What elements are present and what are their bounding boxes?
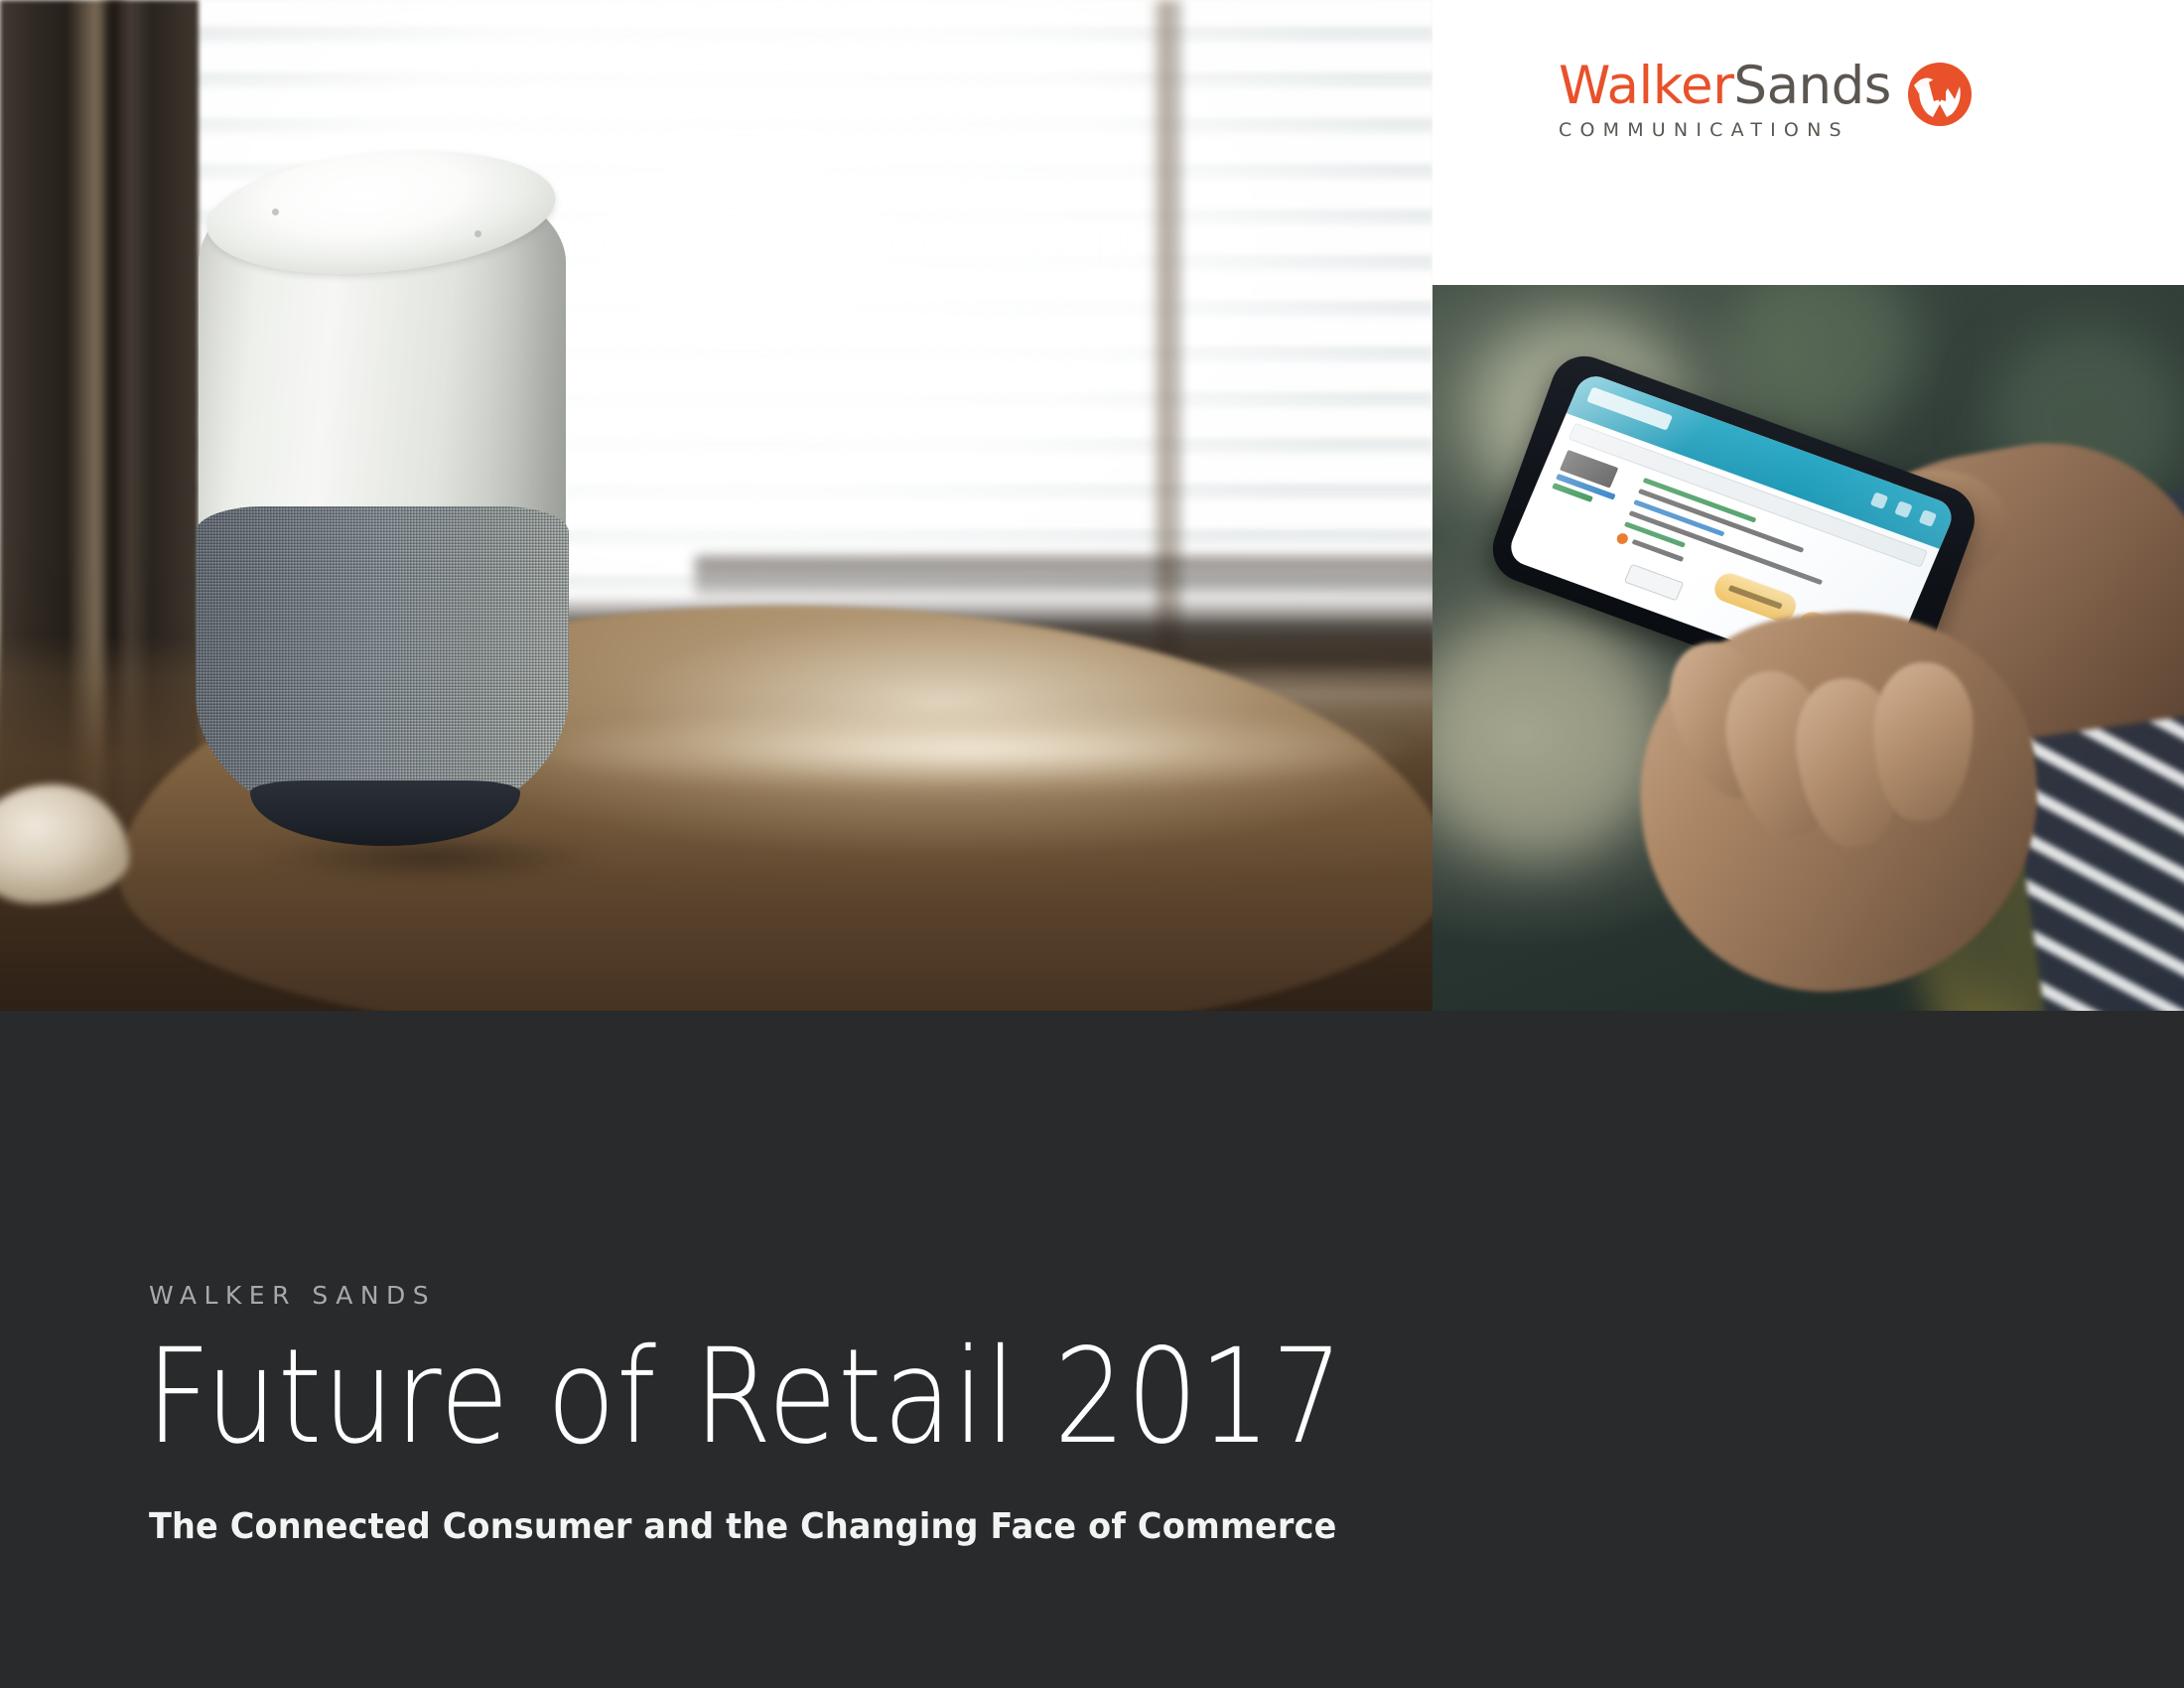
cart-icon [1919,509,1938,527]
logo-area: WalkerSands COMMUNICATIONS [1433,0,2184,285]
bokeh-light [1730,285,1919,434]
logo-word-walker: Walker [1559,56,1733,116]
account-icon [1894,500,1913,518]
logo-wordmark: WalkerSands [1559,60,1891,112]
mobile-shopping-photo [1433,285,2184,1011]
search-icon [1870,492,1889,509]
page-subtitle: The Connected Consumer and the Changing … [149,1507,1337,1547]
table-highlight [496,695,1433,804]
logo-tagline: COMMUNICATIONS [1559,119,1891,141]
hero-photo-band: WalkerSands COMMUNICATIONS [0,0,2184,1011]
logo-wordmark-group: WalkerSands COMMUNICATIONS [1559,60,1891,141]
report-cover: WalkerSands COMMUNICATIONS [0,0,2184,1688]
logo-word-sands: Sands [1733,56,1890,116]
speaker-mic-dot [475,230,481,237]
speaker-mic-dot [272,209,279,215]
page-title: Future of Retail 2017 [146,1332,1344,1463]
walker-sands-circle-mark-icon [1907,62,1973,127]
walker-sands-logo: WalkerSands COMMUNICATIONS [1559,60,1973,141]
smart-speaker-photo [0,0,1433,1011]
brand-eyebrow: WALKER SANDS [149,1281,436,1310]
price-block [1551,450,1635,514]
bokeh-light [1433,613,1661,861]
prime-badge-icon [1615,532,1630,546]
quantity-selector [1624,564,1684,602]
window-sill-upper [695,556,1433,596]
smart-speaker [199,109,566,864]
add-to-cart-label [1728,585,1783,610]
